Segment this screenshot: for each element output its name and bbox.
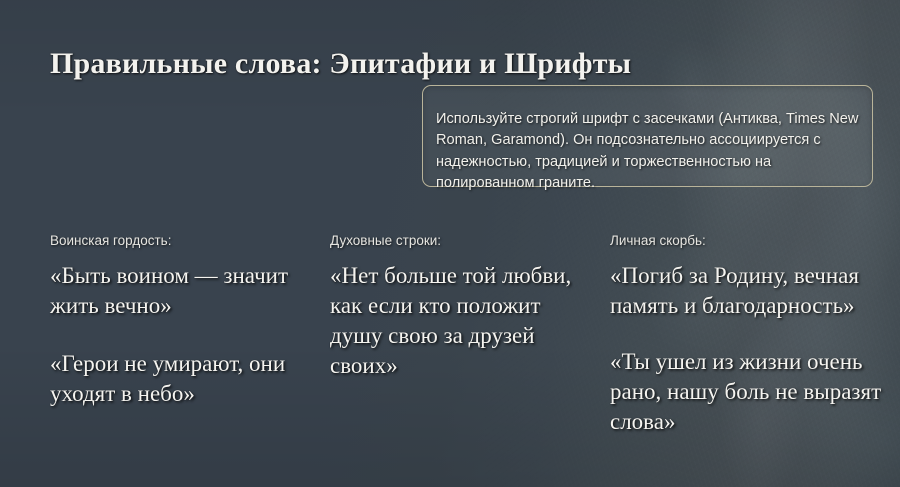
epitaph-quote: «Погиб за Родину, вечная память и благод… bbox=[610, 261, 885, 321]
slide-content: Правильные слова: Эпитафии и Шрифты Испо… bbox=[0, 0, 900, 487]
epitaph-quote: «Ты ушел из жизни очень рано, нашу боль … bbox=[610, 347, 885, 437]
column-martial-pride: Воинская гордость: «Быть воином — значит… bbox=[50, 232, 305, 409]
epitaph-quote: «Нет больше той любви, как если кто поло… bbox=[330, 261, 585, 381]
page-title: Правильные слова: Эпитафии и Шрифты bbox=[50, 46, 631, 82]
tip-callout-text: Используйте строгий шрифт с засечками (А… bbox=[436, 109, 861, 195]
column-label-personal-grief: Личная скорбь: bbox=[610, 232, 885, 249]
slide-canvas: Правильные слова: Эпитафии и Шрифты Испо… bbox=[0, 0, 900, 487]
epitaph-quote: «Быть воином — значит жить вечно» bbox=[50, 261, 305, 321]
column-label-spiritual-lines: Духовные строки: bbox=[330, 232, 585, 249]
column-spiritual-lines: Духовные строки: «Нет больше той любви, … bbox=[330, 232, 585, 381]
tip-callout-box: Используйте строгий шрифт с засечками (А… bbox=[422, 85, 873, 187]
column-personal-grief: Личная скорбь: «Погиб за Родину, вечная … bbox=[610, 232, 885, 437]
epitaph-quote: «Герои не умирают, они уходят в небо» bbox=[50, 349, 305, 409]
column-label-martial-pride: Воинская гордость: bbox=[50, 232, 305, 249]
